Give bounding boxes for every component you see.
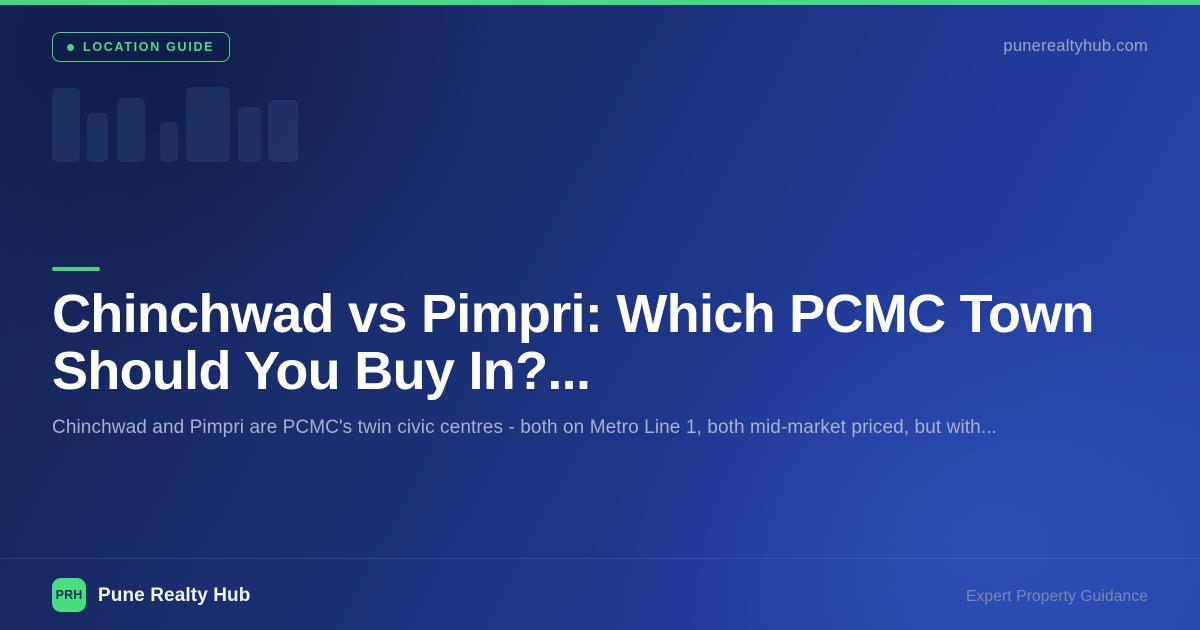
decoration-bar	[87, 113, 108, 162]
category-badge[interactable]: LOCATION GUIDE	[52, 32, 230, 62]
decoration-bar	[268, 100, 298, 162]
decoration-bar	[238, 107, 261, 162]
footer-divider	[0, 558, 1200, 559]
brand-logo-mark: PRH	[52, 578, 86, 612]
footer-tagline: Expert Property Guidance	[966, 589, 1148, 605]
page-title: Chinchwad vs Pimpri: Which PCMC Town Sho…	[52, 286, 1162, 400]
green-accent-rule	[52, 267, 100, 271]
brand-lockup[interactable]: PRH Pune Realty Hub	[52, 578, 250, 612]
brand-logo-initials: PRH	[56, 589, 83, 602]
decoration-bar	[160, 122, 178, 162]
bar-chart-decoration-icon	[52, 86, 312, 162]
top-accent-bar	[0, 0, 1200, 5]
site-url[interactable]: punerealtyhub.com	[1003, 38, 1148, 55]
decoration-bar	[52, 88, 80, 162]
decoration-bar	[186, 87, 230, 162]
social-share-card: LOCATION GUIDE punerealtyhub.com Chinchw…	[0, 0, 1200, 630]
decoration-bar	[117, 98, 145, 162]
page-subtitle: Chinchwad and Pimpri are PCMC's twin civ…	[52, 415, 1112, 441]
category-badge-label: LOCATION GUIDE	[83, 41, 214, 54]
brand-name: Pune Realty Hub	[98, 586, 250, 605]
status-dot-icon	[67, 44, 74, 51]
